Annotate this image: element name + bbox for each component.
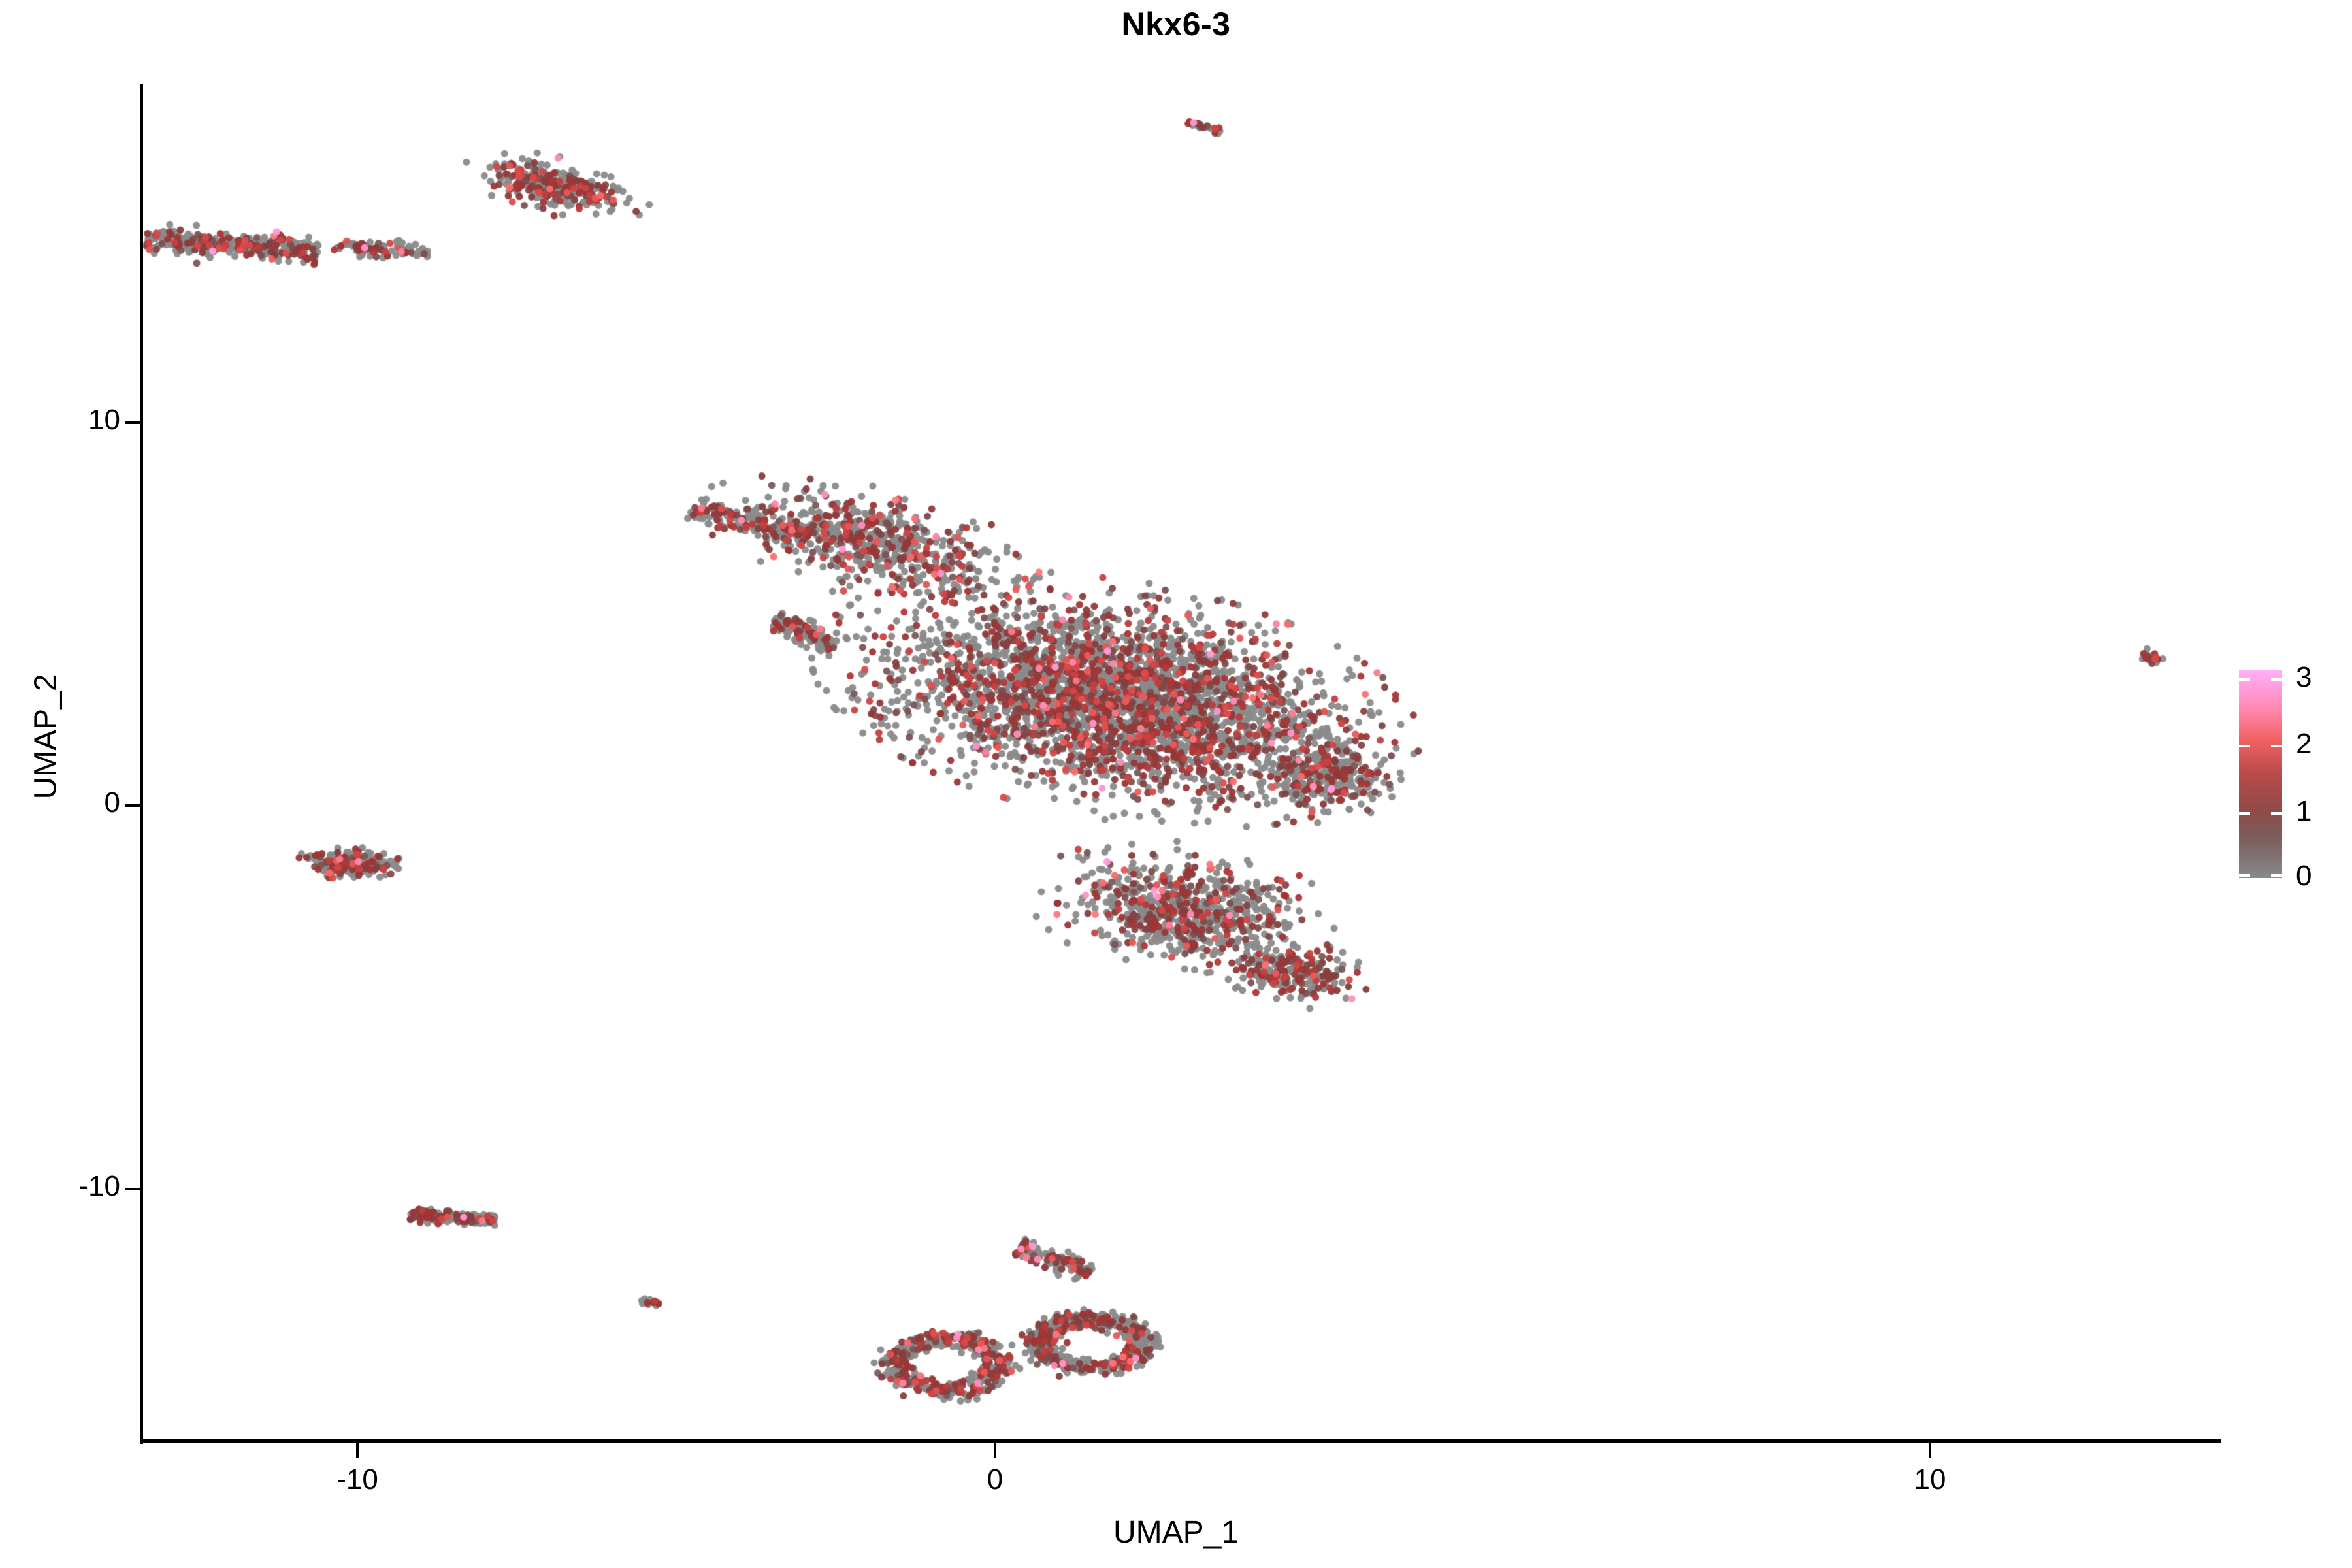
x-tick-label-10: 10 <box>1914 1463 1946 1496</box>
x-tick-mark-neg10 <box>356 1442 359 1458</box>
legend-tick-0-left <box>2239 874 2250 877</box>
x-tick-mark-10 <box>1929 1442 1931 1458</box>
legend-tick-0-right <box>2271 874 2282 877</box>
legend-tick-2-right <box>2271 745 2282 747</box>
legend-label-0: 0 <box>2296 860 2311 892</box>
y-tick-label-neg10: -10 <box>78 1170 120 1203</box>
x-tick-label-neg10: -10 <box>336 1463 378 1496</box>
umap-feature-plot: Nkx6-3 10 0 -10 -10 0 10 UMAP_1 UMAP_2 3… <box>0 0 2352 1568</box>
y-axis-title: UMAP_2 <box>29 674 63 799</box>
x-tick-label-0: 0 <box>987 1463 1003 1496</box>
legend-tick-1-right <box>2271 812 2282 815</box>
scatter-canvas <box>142 85 2220 1441</box>
legend-label-1: 1 <box>2296 795 2311 828</box>
y-tick-mark-0 <box>125 804 141 807</box>
y-axis-title-wrapper: UMAP_2 <box>28 410 64 1064</box>
y-tick-label-10: 10 <box>88 404 120 436</box>
y-axis-line <box>140 84 143 1444</box>
x-axis-title: UMAP_1 <box>0 1514 2352 1550</box>
y-tick-mark-neg10 <box>125 1188 141 1190</box>
legend-gradient <box>2239 670 2282 878</box>
legend-label-2: 2 <box>2296 728 2311 760</box>
y-tick-label-0: 0 <box>105 787 120 819</box>
x-tick-mark-0 <box>994 1442 996 1458</box>
legend-label-3: 3 <box>2296 661 2311 694</box>
legend-tick-3-right <box>2271 678 2282 681</box>
y-tick-mark-10 <box>125 421 141 424</box>
legend-tick-3-left <box>2239 678 2250 681</box>
x-axis-line <box>140 1439 2221 1443</box>
legend-tick-1-left <box>2239 812 2250 815</box>
legend-colorbar <box>2239 670 2282 878</box>
legend-tick-2-left <box>2239 745 2250 747</box>
page-title: Nkx6-3 <box>0 5 2352 43</box>
